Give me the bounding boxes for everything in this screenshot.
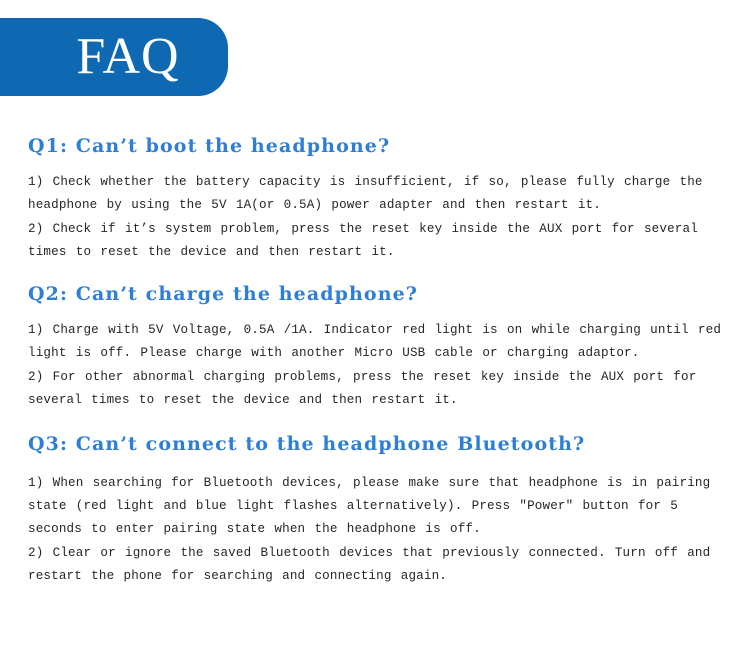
faq-answer-item: 2) Clear or ignore the saved Bluetooth d… xyxy=(28,542,728,588)
faq-answers-q2: 1) Charge with 5V Voltage, 0.5A /1A. Ind… xyxy=(28,319,728,412)
faq-banner: FAQ xyxy=(0,18,228,96)
faq-block-q2: Q2: Can’t charge the headphone? 1) Charg… xyxy=(28,280,728,413)
faq-question-q1: Q1: Can’t boot the headphone? xyxy=(28,132,728,161)
faq-answer-item: 2) Check if it’s system problem, press t… xyxy=(28,218,728,264)
faq-page: FAQ Q1: Can’t boot the headphone? 1) Che… xyxy=(0,0,750,672)
faq-content: Q1: Can’t boot the headphone? 1) Check w… xyxy=(28,132,728,589)
faq-answers-q1: 1) Check whether the battery capacity is… xyxy=(28,171,728,264)
faq-answer-item: 1) When searching for Bluetooth devices,… xyxy=(28,472,728,541)
faq-answer-item: 2) For other abnormal charging problems,… xyxy=(28,366,728,412)
faq-banner-shape: FAQ xyxy=(0,18,228,96)
faq-block-q1: Q1: Can’t boot the headphone? 1) Check w… xyxy=(28,132,728,264)
faq-question-q2: Q2: Can’t charge the headphone? xyxy=(28,280,728,309)
faq-banner-title: FAQ xyxy=(76,31,179,83)
faq-block-q3: Q3: Can’t connect to the headphone Bluet… xyxy=(28,430,728,588)
faq-answer-item: 1) Charge with 5V Voltage, 0.5A /1A. Ind… xyxy=(28,319,728,365)
faq-answers-q3: 1) When searching for Bluetooth devices,… xyxy=(28,472,728,588)
faq-question-q3: Q3: Can’t connect to the headphone Bluet… xyxy=(28,430,728,459)
faq-answer-item: 1) Check whether the battery capacity is… xyxy=(28,171,728,217)
